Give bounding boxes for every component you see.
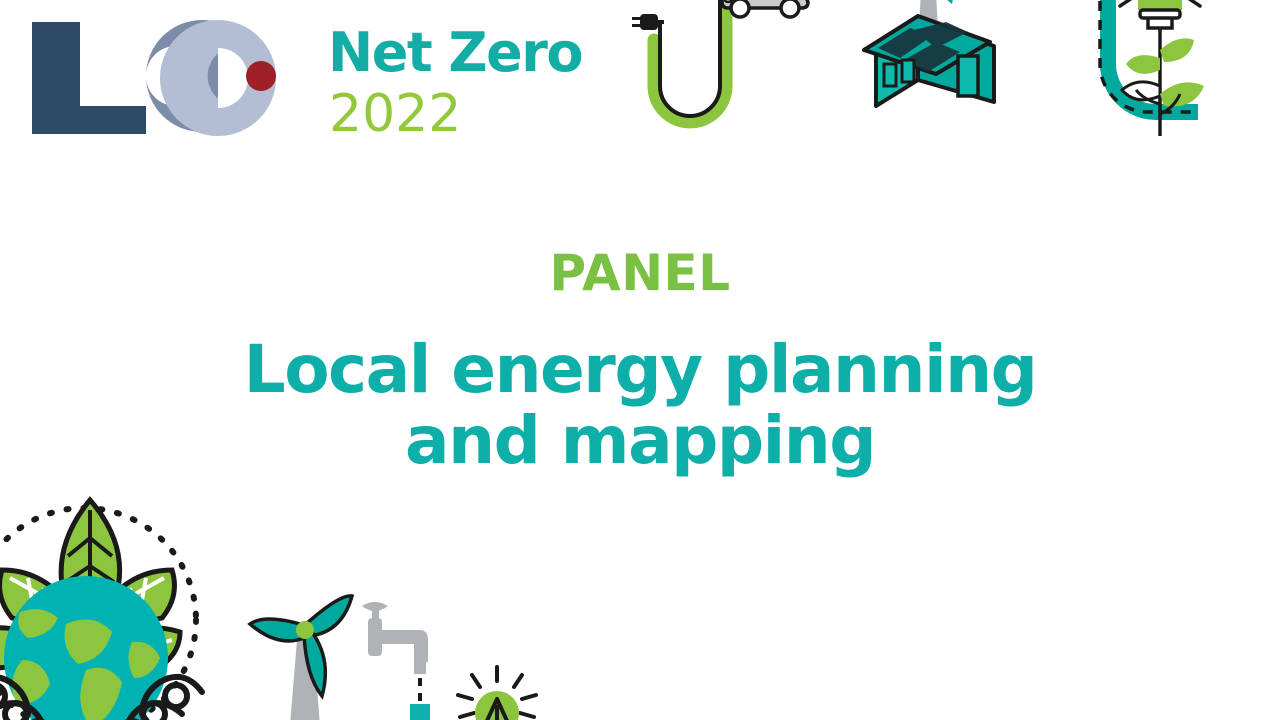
wordmark-net-zero: Net Zero — [328, 26, 582, 80]
solar-panel-house-illustration — [856, 0, 1006, 130]
panel-kicker-label: PANEL — [0, 246, 1280, 301]
turbine-hub-icon — [296, 621, 314, 639]
logo-letter-l — [32, 22, 146, 134]
wordmark-year: 2022 — [329, 88, 461, 140]
lgc-net-zero-logo: Net Zero 2022 — [28, 14, 588, 139]
lgc-logo-mark — [28, 14, 286, 138]
water-container-icon — [410, 704, 430, 720]
page-title-line-2: and mapping — [90, 405, 1190, 476]
page-title: Local energy planning and mapping — [90, 334, 1190, 477]
slide-canvas: Net Zero 2022 — [0, 0, 1280, 720]
page-title-line-1: Local energy planning — [90, 334, 1190, 405]
car-icon — [722, 0, 808, 17]
lightbulb-icon — [1108, 0, 1212, 28]
water-tap-illustration — [360, 600, 460, 720]
ev-charging-cable-and-car-illustration — [612, 0, 822, 138]
net-zero-wordmark: Net Zero 2022 — [300, 16, 590, 140]
leaf-lightbulb-illustration — [1078, 0, 1244, 144]
logo-dot-icon — [246, 61, 276, 91]
globe-in-hands-illustration — [0, 492, 246, 720]
house-icon — [864, 16, 994, 106]
tap-icon — [362, 602, 428, 674]
wind-turbine-illustration — [240, 580, 370, 720]
green-energy-bulb-icon — [450, 665, 545, 720]
